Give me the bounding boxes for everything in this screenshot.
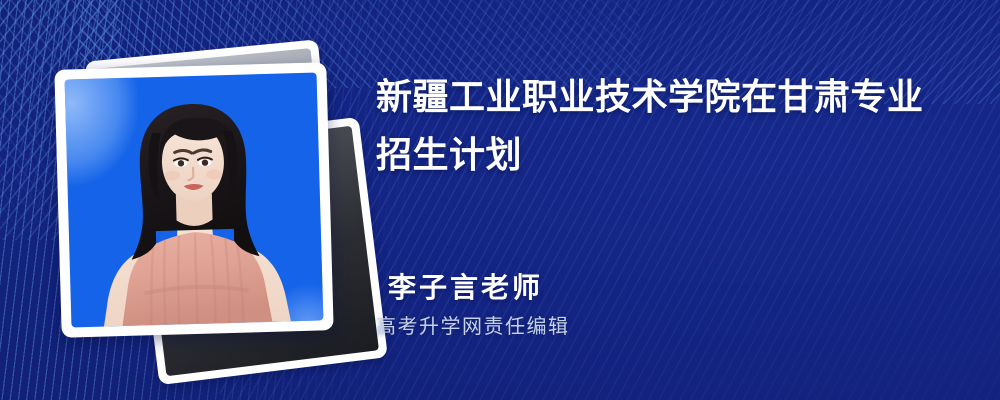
author-role: 高考升学网责任编辑 — [376, 312, 948, 342]
portrait-illustration — [65, 73, 324, 328]
page-title-line-2: 招生计划 — [376, 126, 956, 184]
photo-card-front — [54, 62, 333, 337]
banner-title-block: 新疆工业职业技术学院在甘肃专业 招生计划 — [376, 68, 956, 184]
editor-portrait-photo — [65, 73, 324, 328]
byline-block: 李子言老师 高考升学网责任编辑 — [388, 270, 948, 342]
author-name: 李子言老师 — [388, 270, 948, 306]
page-title-line-1: 新疆工业职业技术学院在甘肃专业 — [376, 68, 956, 126]
article-header-banner: 新疆工业职业技术学院在甘肃专业 招生计划 李子言老师 高考升学网责任编辑 — [0, 0, 1000, 400]
photo-card-stack — [58, 44, 350, 356]
